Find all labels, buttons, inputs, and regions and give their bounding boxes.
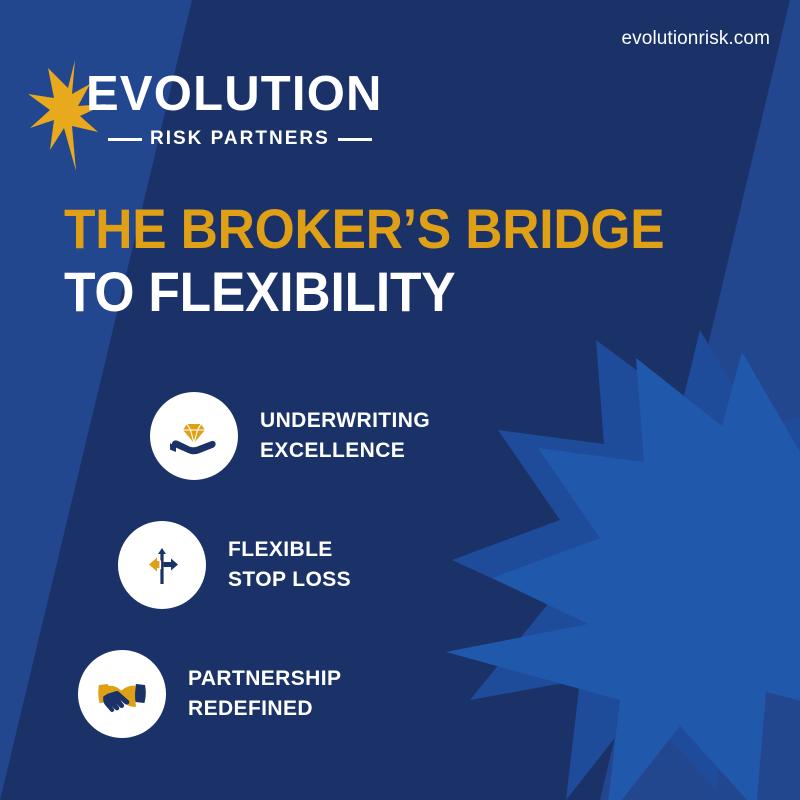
website-url[interactable]: evolutionrisk.com	[622, 28, 770, 50]
starburst-shape-back	[452, 330, 800, 800]
feature-badge	[150, 392, 238, 480]
logo-tagline-row: RISK PARTNERS	[86, 128, 386, 150]
logo-title: EVOLUTION	[86, 70, 386, 119]
headline-line-1: THE BROKER’S BRIDGE	[64, 198, 708, 261]
headline-line-2: TO FLEXIBILITY	[64, 261, 708, 324]
feature-label: UNDERWRITING EXCELLENCE	[260, 406, 430, 466]
right-diagonal-band	[600, 0, 800, 800]
logo-rule-left	[108, 138, 142, 141]
headline: THE BROKER’S BRIDGE TO FLEXIBILITY	[64, 198, 764, 323]
logo-rule-right	[338, 138, 372, 141]
feature-item-partnership[interactable]: PARTNERSHIP REDEFINED	[78, 650, 341, 738]
feature-label: PARTNERSHIP REDEFINED	[188, 664, 341, 724]
feature-item-underwriting[interactable]: UNDERWRITING EXCELLENCE	[150, 392, 430, 480]
handshake-icon	[93, 665, 151, 723]
feature-badge	[118, 521, 206, 609]
feature-item-stop-loss[interactable]: FLEXIBLE STOP LOSS	[118, 521, 351, 609]
feature-label: FLEXIBLE STOP LOSS	[228, 535, 351, 595]
brand-logo[interactable]: EVOLUTION RISK PARTNERS	[28, 58, 378, 173]
feature-badge	[78, 650, 166, 738]
promo-poster: evolutionrisk.com EVOLUTION RISK PARTNER…	[0, 0, 800, 800]
logo-tagline: RISK PARTNERS	[150, 128, 330, 150]
starburst-shape-front	[446, 352, 800, 800]
hand-holding-diamond-icon	[166, 408, 222, 464]
logo-wordmark: EVOLUTION RISK PARTNERS	[86, 70, 386, 150]
branching-arrows-icon	[135, 538, 189, 592]
